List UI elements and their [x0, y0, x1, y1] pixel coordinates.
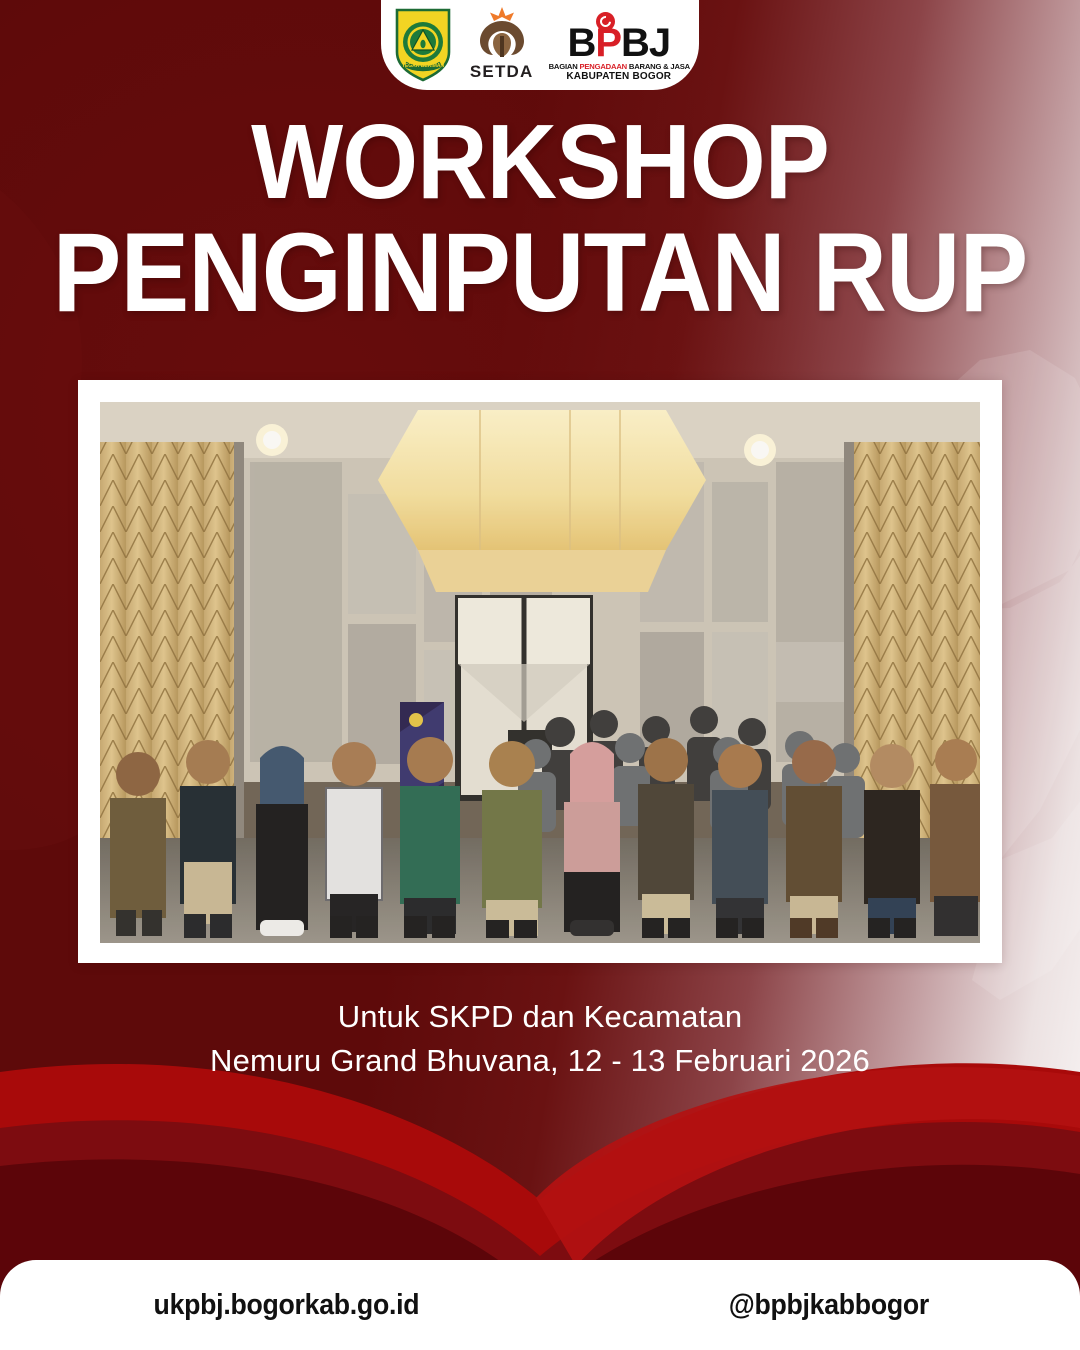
bpbj-subtitle-1: BAGIAN PENGADAAN BARANG & JASA — [548, 62, 689, 71]
logo-slot-bogor: TEGAR BERIMAN — [392, 6, 454, 82]
event-caption: Untuk SKPD dan Kecamatan Nemuru Grand Bh… — [0, 995, 1080, 1083]
bpbj-letter-j: J — [649, 27, 670, 61]
svg-text:TEGAR BERIMAN: TEGAR BERIMAN — [402, 63, 445, 69]
logo-slot-bpbj: B P B J BAGIAN PENGADAAN BARANG & JASA K… — [550, 27, 689, 82]
title-line-1: WORKSHOP — [43, 108, 1037, 216]
bpbj-sub-b: PENGADAAN — [579, 62, 626, 71]
bpbj-sub-a: BAGIAN — [548, 62, 579, 71]
caption-line-2: Nemuru Grand Bhuvana, 12 - 13 Februari 2… — [0, 1039, 1080, 1083]
photo-frame — [78, 380, 1002, 963]
page-title: WORKSHOP PENGINPUTAN RUP — [0, 108, 1080, 330]
poster-canvas: TEGAR BERIMAN SETDA B P B J — [0, 0, 1080, 1350]
event-photo — [100, 402, 980, 943]
bpbj-letter-b2: B — [621, 27, 649, 61]
bpbj-letter-p: P — [595, 27, 621, 61]
title-line-2: PENGINPUTAN RUP — [43, 216, 1037, 330]
bpbj-sub-c: BARANG & JASA — [626, 62, 689, 71]
bpbj-letter-b1: B — [567, 27, 595, 61]
caption-line-1: Untuk SKPD dan Kecamatan — [0, 995, 1080, 1039]
footer-website[interactable]: ukpbj.bogorkab.go.id — [154, 1289, 420, 1322]
footer-bar: ukpbj.bogorkab.go.id @bpbjkabbogor — [0, 1260, 1080, 1350]
setda-emblem-icon — [474, 5, 530, 61]
logo-header-pill: TEGAR BERIMAN SETDA B P B J — [381, 0, 699, 90]
footer-social-handle[interactable]: @bpbjkabbogor — [729, 1289, 929, 1322]
bpbj-wordmark: B P B J — [567, 27, 670, 61]
logo-slot-setda: SETDA — [470, 5, 534, 82]
event-photo-illustration — [100, 402, 980, 943]
bpbj-subtitle-2: KABUPATEN BOGOR — [566, 71, 671, 82]
kabupaten-bogor-crest-icon: TEGAR BERIMAN — [392, 6, 454, 82]
setda-label: SETDA — [470, 62, 534, 82]
